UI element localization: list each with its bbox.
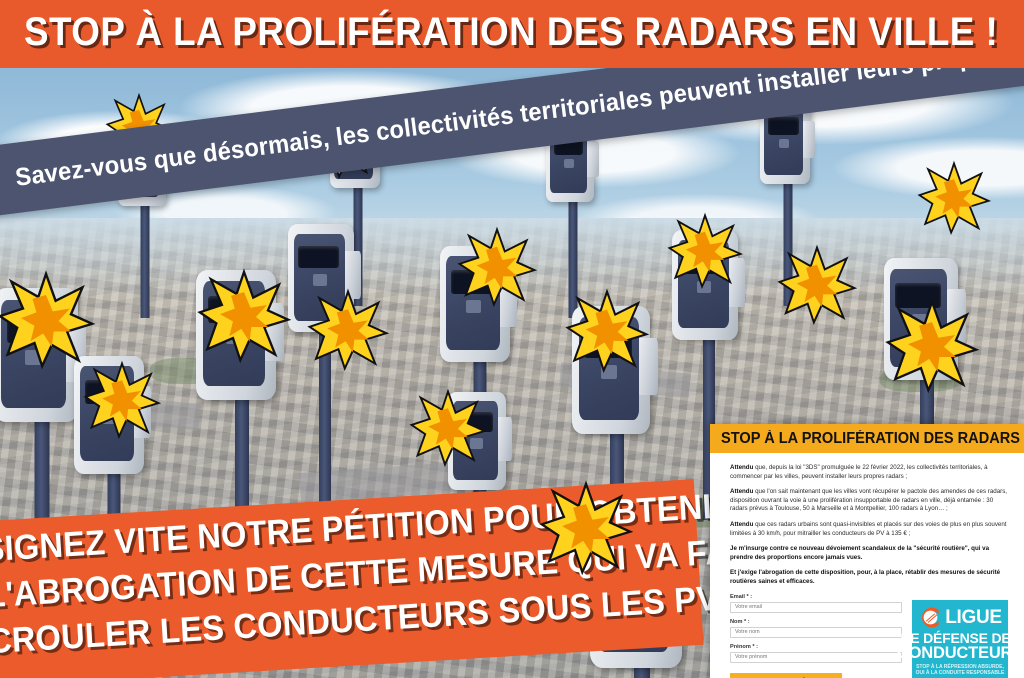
starburst-icon — [0, 272, 94, 368]
starburst-icon — [918, 162, 990, 234]
petition-statement: Je m'insurge contre ce nouveau dévoiemen… — [730, 545, 1008, 562]
camera-hood — [496, 417, 512, 461]
logo-tagline-2: OUI À LA CONDUITE RESPONSABLE — [916, 670, 1005, 676]
starburst-icon — [778, 246, 856, 324]
petition-paragraph: Attendu que ces radars urbains sont quas… — [730, 521, 1008, 538]
paragraph-text: que, depuis la loi "3DS" promulguée le 2… — [730, 464, 988, 480]
petition-form: Email * : Nom * : Prénom * : JE SIGNE LA… — [730, 594, 1008, 678]
starburst-icon — [886, 300, 978, 392]
starburst-icon — [566, 290, 648, 372]
petition-body: Attendu que, depuis la loi "3DS" promulg… — [710, 453, 1024, 678]
ligue-logo: LIGUE DE DÉFENSE DES CONDUCTEURS STOP À … — [912, 600, 1008, 678]
prenom-input[interactable] — [730, 652, 902, 663]
camera-pole — [141, 202, 150, 318]
camera-lens — [779, 139, 789, 148]
form-fields: Email * : Nom * : Prénom * : JE SIGNE LA… — [730, 594, 902, 678]
header-band: STOP À LA PROLIFÉRATION DES RADARS EN VI… — [0, 0, 1024, 68]
petition-title: STOP À LA PROLIFÉRATION DES RADARS EN VI… — [721, 430, 1024, 448]
paragraph-lead: Attendu — [730, 521, 753, 528]
petition-header: STOP À LA PROLIFÉRATION DES RADARS EN VI… — [710, 424, 1024, 453]
petition-panel: STOP À LA PROLIFÉRATION DES RADARS EN VI… — [710, 424, 1024, 678]
starburst-icon — [410, 390, 486, 466]
petition-paragraph: Attendu que l'on sait maintenant que les… — [730, 488, 1008, 514]
camera-lens — [564, 159, 574, 168]
camera-hood — [586, 142, 599, 177]
paragraph-text: que ces radars urbains sont quasi-invisi… — [730, 521, 1007, 537]
logo-top-row: LIGUE — [918, 605, 1002, 630]
email-input[interactable] — [730, 602, 902, 613]
petition-paragraph: Attendu que, depuis la loi "3DS" promulg… — [730, 464, 1008, 481]
email-label: Email * : — [730, 594, 902, 600]
logo-tagline-1: STOP À LA RÉPRESSION ABSURDE, — [916, 664, 1005, 670]
camera-window — [768, 117, 799, 135]
paragraph-text: que l'on sait maintenant que les villes … — [730, 488, 1007, 512]
logo-line-3: CONDUCTEURS — [897, 646, 1023, 661]
poster-root: Savez-vous que désormais, les collectivi… — [0, 0, 1024, 678]
starburst-icon — [458, 228, 536, 306]
prenom-label: Prénom * : — [730, 644, 902, 650]
camera-window — [298, 246, 339, 268]
speed-camera — [546, 122, 600, 318]
petition-statement: Et j'exige l'abrogation de cette disposi… — [730, 569, 1008, 586]
ligue-swoosh-icon — [918, 605, 943, 630]
starburst-icon — [308, 290, 388, 370]
starburst-icon — [540, 482, 632, 574]
nom-input[interactable] — [730, 627, 902, 638]
page-title: STOP À LA PROLIFÉRATION DES RADARS EN VI… — [24, 10, 998, 55]
camera-hood — [802, 121, 815, 158]
paragraph-lead: Attendu — [730, 464, 753, 471]
logo-tagline: STOP À LA RÉPRESSION ABSURDE, OUI À LA C… — [916, 664, 1005, 676]
starburst-icon — [84, 362, 160, 438]
paragraph-lead: Attendu — [730, 488, 753, 495]
camera-lens — [313, 274, 327, 286]
starburst-icon — [198, 270, 290, 362]
starburst-icon — [668, 214, 742, 288]
nom-label: Nom * : — [730, 619, 902, 625]
sign-petition-button[interactable]: JE SIGNE LA PÉTITION — [730, 673, 842, 678]
logo-line-1: LIGUE — [945, 608, 1002, 627]
